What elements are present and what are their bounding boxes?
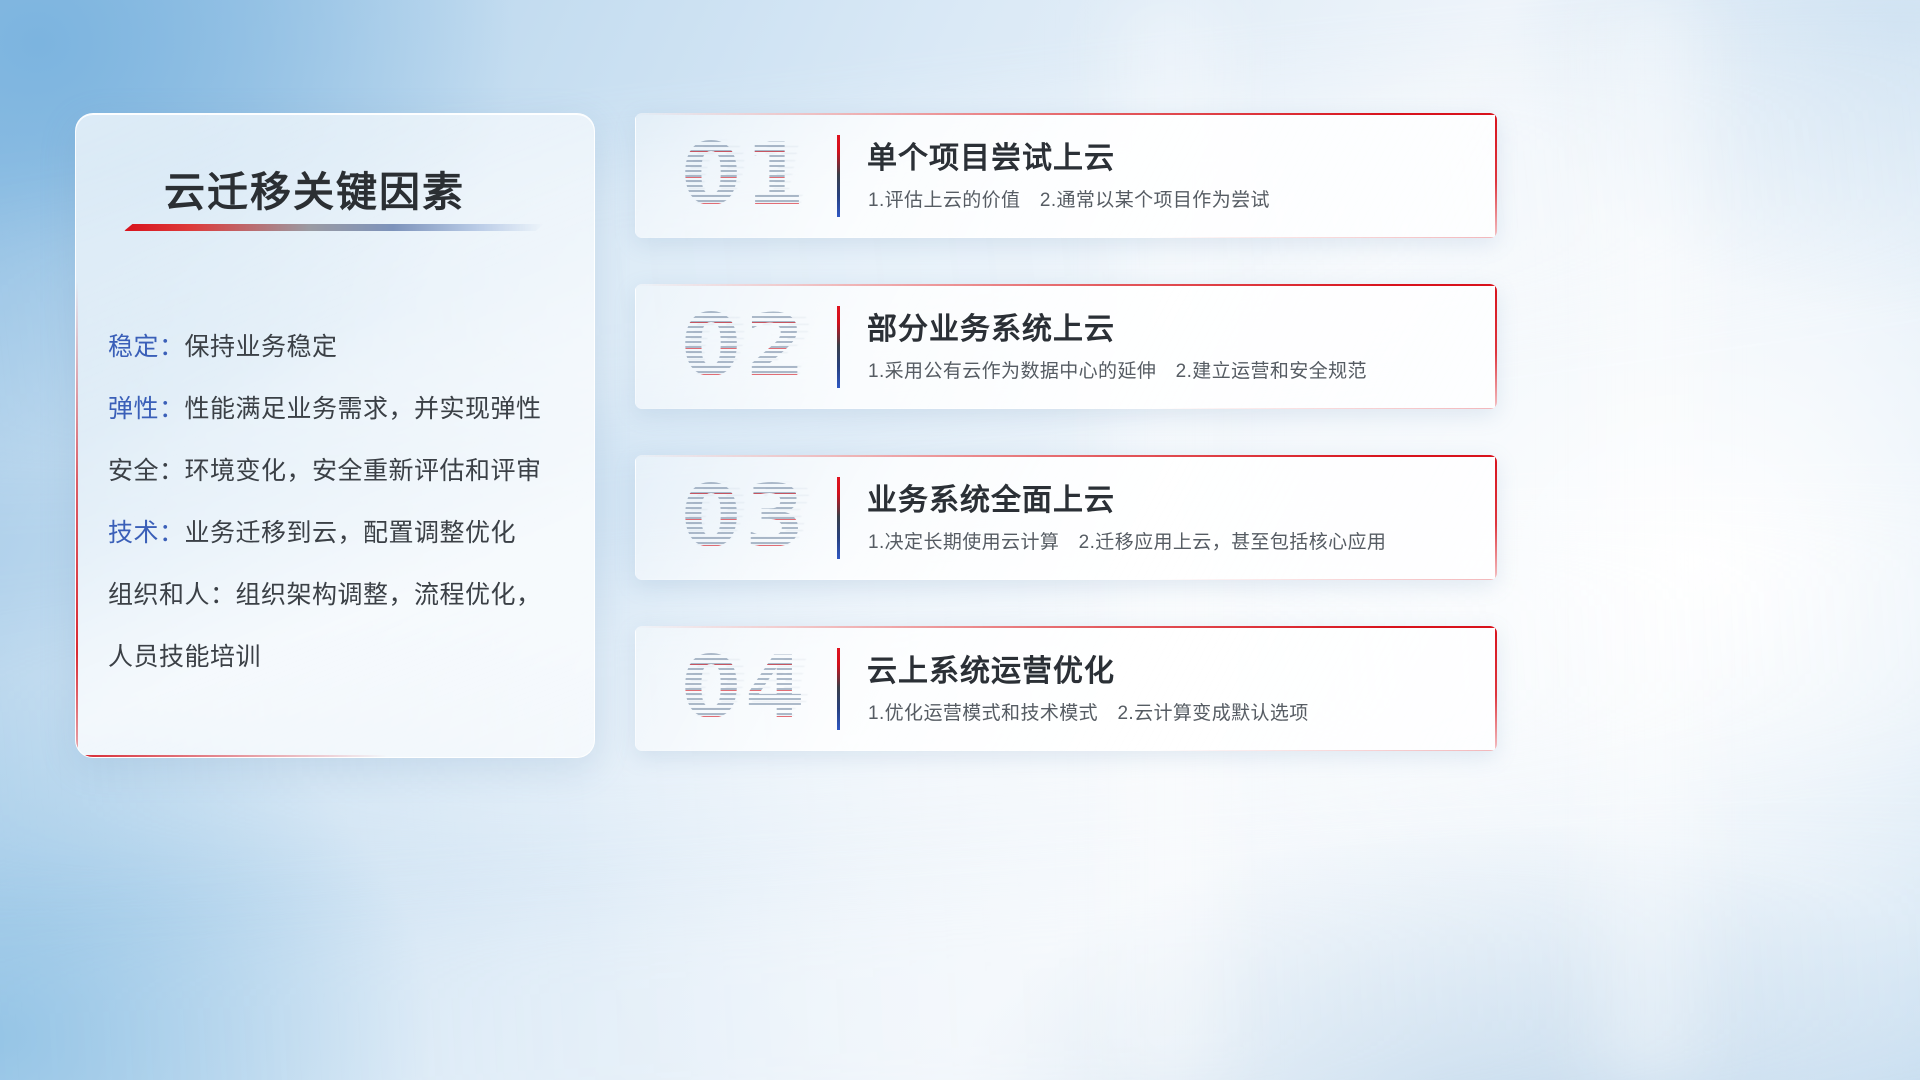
card-top-accent bbox=[635, 113, 1497, 115]
stage-divider-bar bbox=[837, 648, 840, 730]
card-left-red-accent bbox=[76, 281, 78, 757]
stage-divider-bar bbox=[837, 477, 840, 559]
stage-number: 01 bbox=[657, 125, 833, 225]
card-left-edge bbox=[635, 626, 636, 751]
card-right-accent bbox=[1495, 455, 1497, 580]
stage-subtitle: 1.优化运营模式和技术模式 2.云计算变成默认选项 bbox=[868, 698, 1309, 725]
card-top-accent bbox=[635, 455, 1497, 457]
card-left-edge bbox=[635, 113, 636, 238]
list-item-key: 组织和人： bbox=[108, 575, 236, 611]
stage-title: 部分业务系统上云 bbox=[867, 304, 1115, 348]
key-factors-list: 稳定： 保持业务稳定 弹性： 性能满足业务需求，并实现弹性 安全： 环境变化，安… bbox=[108, 314, 574, 686]
title-gradient-rule bbox=[124, 224, 544, 231]
card-bottom-red-accent bbox=[76, 755, 387, 757]
stage-card-03[interactable]: 03 03 03 业务系统全面上云 1.决定长期使用云计算 2.迁移应用上云，甚… bbox=[635, 455, 1497, 580]
card-top-accent bbox=[635, 626, 1497, 628]
list-item: 弹性： 性能满足业务需求，并实现弹性 bbox=[108, 376, 574, 438]
background-vertical-glow bbox=[1560, 0, 1740, 1080]
list-item-key: 稳定： bbox=[108, 327, 185, 363]
stage-number: 02 bbox=[657, 296, 833, 396]
stage-title: 单个项目尝试上云 bbox=[867, 133, 1115, 177]
stage-card-04[interactable]: 04 04 04 云上系统运营优化 1.优化运营模式和技术模式 2.云计算变成默… bbox=[635, 626, 1497, 751]
list-item: 稳定： 保持业务稳定 bbox=[108, 314, 574, 376]
stage-card-01[interactable]: 01 01 01 单个项目尝试上云 1.评估上云的价值 2.通常以某个项目作为尝… bbox=[635, 113, 1497, 238]
list-item: 组织和人： 组织架构调整，流程优化， bbox=[108, 562, 574, 624]
list-item: 人员技能培训 bbox=[108, 624, 574, 686]
card-right-accent bbox=[1495, 626, 1497, 751]
list-item-text: 业务迁移到云，配置调整优化 bbox=[185, 513, 517, 549]
key-factors-card: 云迁移关键因素 稳定： 保持业务稳定 弹性： 性能满足业务需求，并实现弹性 安全… bbox=[75, 113, 595, 758]
stage-subtitle: 1.评估上云的价值 2.通常以某个项目作为尝试 bbox=[868, 185, 1270, 212]
card-right-accent bbox=[1495, 284, 1497, 409]
card-bottom-edge bbox=[635, 750, 1497, 751]
stage-divider-bar bbox=[837, 135, 840, 217]
stage-subtitle: 1.采用公有云作为数据中心的延伸 2.建立运营和安全规范 bbox=[868, 356, 1367, 383]
list-item-text: 保持业务稳定 bbox=[185, 327, 338, 363]
list-item-key: 安全： bbox=[108, 451, 185, 487]
stage-number: 03 bbox=[657, 467, 833, 567]
card-left-edge bbox=[635, 284, 636, 409]
stage-card-02[interactable]: 02 02 02 部分业务系统上云 1.采用公有云作为数据中心的延伸 2.建立运… bbox=[635, 284, 1497, 409]
card-bottom-edge bbox=[635, 237, 1497, 238]
card-bottom-edge bbox=[635, 408, 1497, 409]
stage-subtitle: 1.决定长期使用云计算 2.迁移应用上云，甚至包括核心应用 bbox=[868, 527, 1386, 554]
list-item-key: 技术： bbox=[108, 513, 185, 549]
list-item-key: 弹性： bbox=[108, 389, 185, 425]
list-item: 技术： 业务迁移到云，配置调整优化 bbox=[108, 500, 574, 562]
card-top-accent bbox=[635, 284, 1497, 286]
list-item-text: 环境变化，安全重新评估和评审 bbox=[185, 451, 542, 487]
stage-divider-bar bbox=[837, 306, 840, 388]
list-item-text: 性能满足业务需求，并实现弹性 bbox=[185, 389, 542, 425]
page-title: 云迁移关键因素 bbox=[164, 158, 465, 218]
list-item-text: 人员技能培训 bbox=[108, 637, 261, 673]
stage-title: 云上系统运营优化 bbox=[867, 646, 1115, 690]
stage-number: 04 bbox=[657, 638, 833, 738]
list-item: 安全： 环境变化，安全重新评估和评审 bbox=[108, 438, 574, 500]
card-left-edge bbox=[635, 455, 636, 580]
list-item-text: 组织架构调整，流程优化， bbox=[236, 575, 542, 611]
card-bottom-edge bbox=[635, 579, 1497, 580]
card-right-accent bbox=[1495, 113, 1497, 238]
stage-title: 业务系统全面上云 bbox=[867, 475, 1115, 519]
